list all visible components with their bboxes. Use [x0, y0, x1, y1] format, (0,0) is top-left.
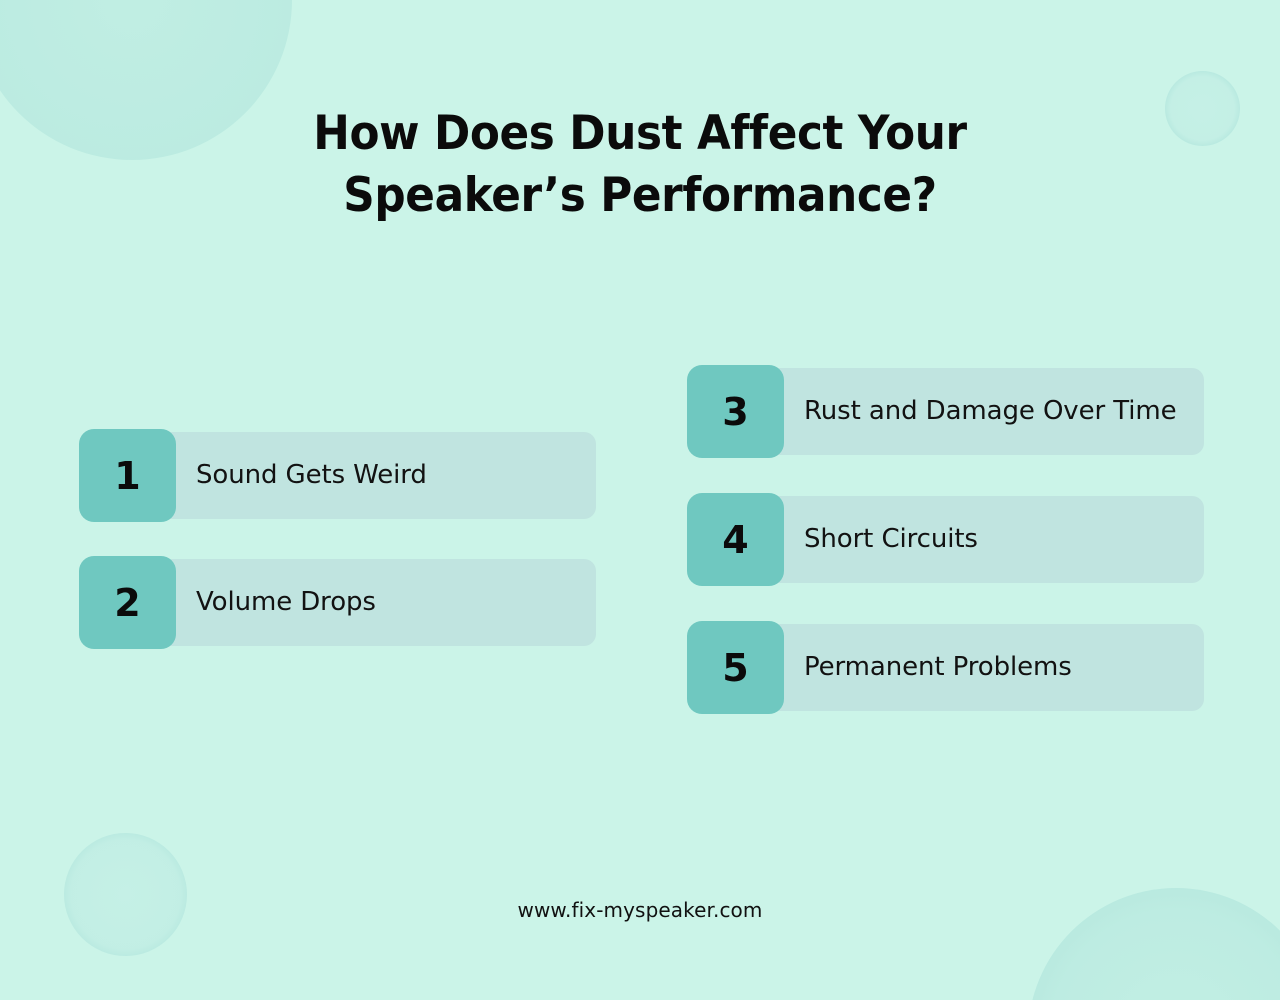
list-item-number-badge: 5: [687, 621, 784, 714]
list-item-number-badge: 1: [79, 429, 176, 522]
infographic-poster: How Does Dust Affect Your Speaker’s Perf…: [0, 0, 1280, 1000]
footer-url[interactable]: www.fix-myspeaker.com: [0, 898, 1280, 922]
list-item-number-badge: 3: [687, 365, 784, 458]
page-title-line-1: How Does Dust Affect Your: [313, 106, 967, 161]
page-title-line-2: Speaker’s Performance?: [343, 168, 936, 223]
list-item-label: Permanent Problems: [784, 621, 1204, 714]
list-item-label: Short Circuits: [784, 493, 1204, 586]
list-item[interactable]: 4 Short Circuits: [687, 493, 1204, 586]
bubble-top-right-icon: [1165, 71, 1240, 146]
list-item-number-badge: 4: [687, 493, 784, 586]
list-item[interactable]: 5 Permanent Problems: [687, 621, 1204, 714]
list-item-label: Rust and Damage Over Time: [784, 365, 1204, 458]
list-item-number-badge: 2: [79, 556, 176, 649]
page-title: How Does Dust Affect Your Speaker’s Perf…: [222, 103, 1059, 227]
list-item[interactable]: 2 Volume Drops: [79, 556, 596, 649]
list-item-label: Volume Drops: [176, 556, 596, 649]
list-column-left: 1 Sound Gets Weird 2 Volume Drops: [79, 429, 596, 683]
list-item[interactable]: 3 Rust and Damage Over Time: [687, 365, 1204, 458]
list-item-label: Sound Gets Weird: [176, 429, 596, 522]
bubble-bottom-left-icon: [64, 833, 187, 956]
list-column-right: 3 Rust and Damage Over Time 4 Short Circ…: [687, 365, 1204, 749]
list-item[interactable]: 1 Sound Gets Weird: [79, 429, 596, 522]
